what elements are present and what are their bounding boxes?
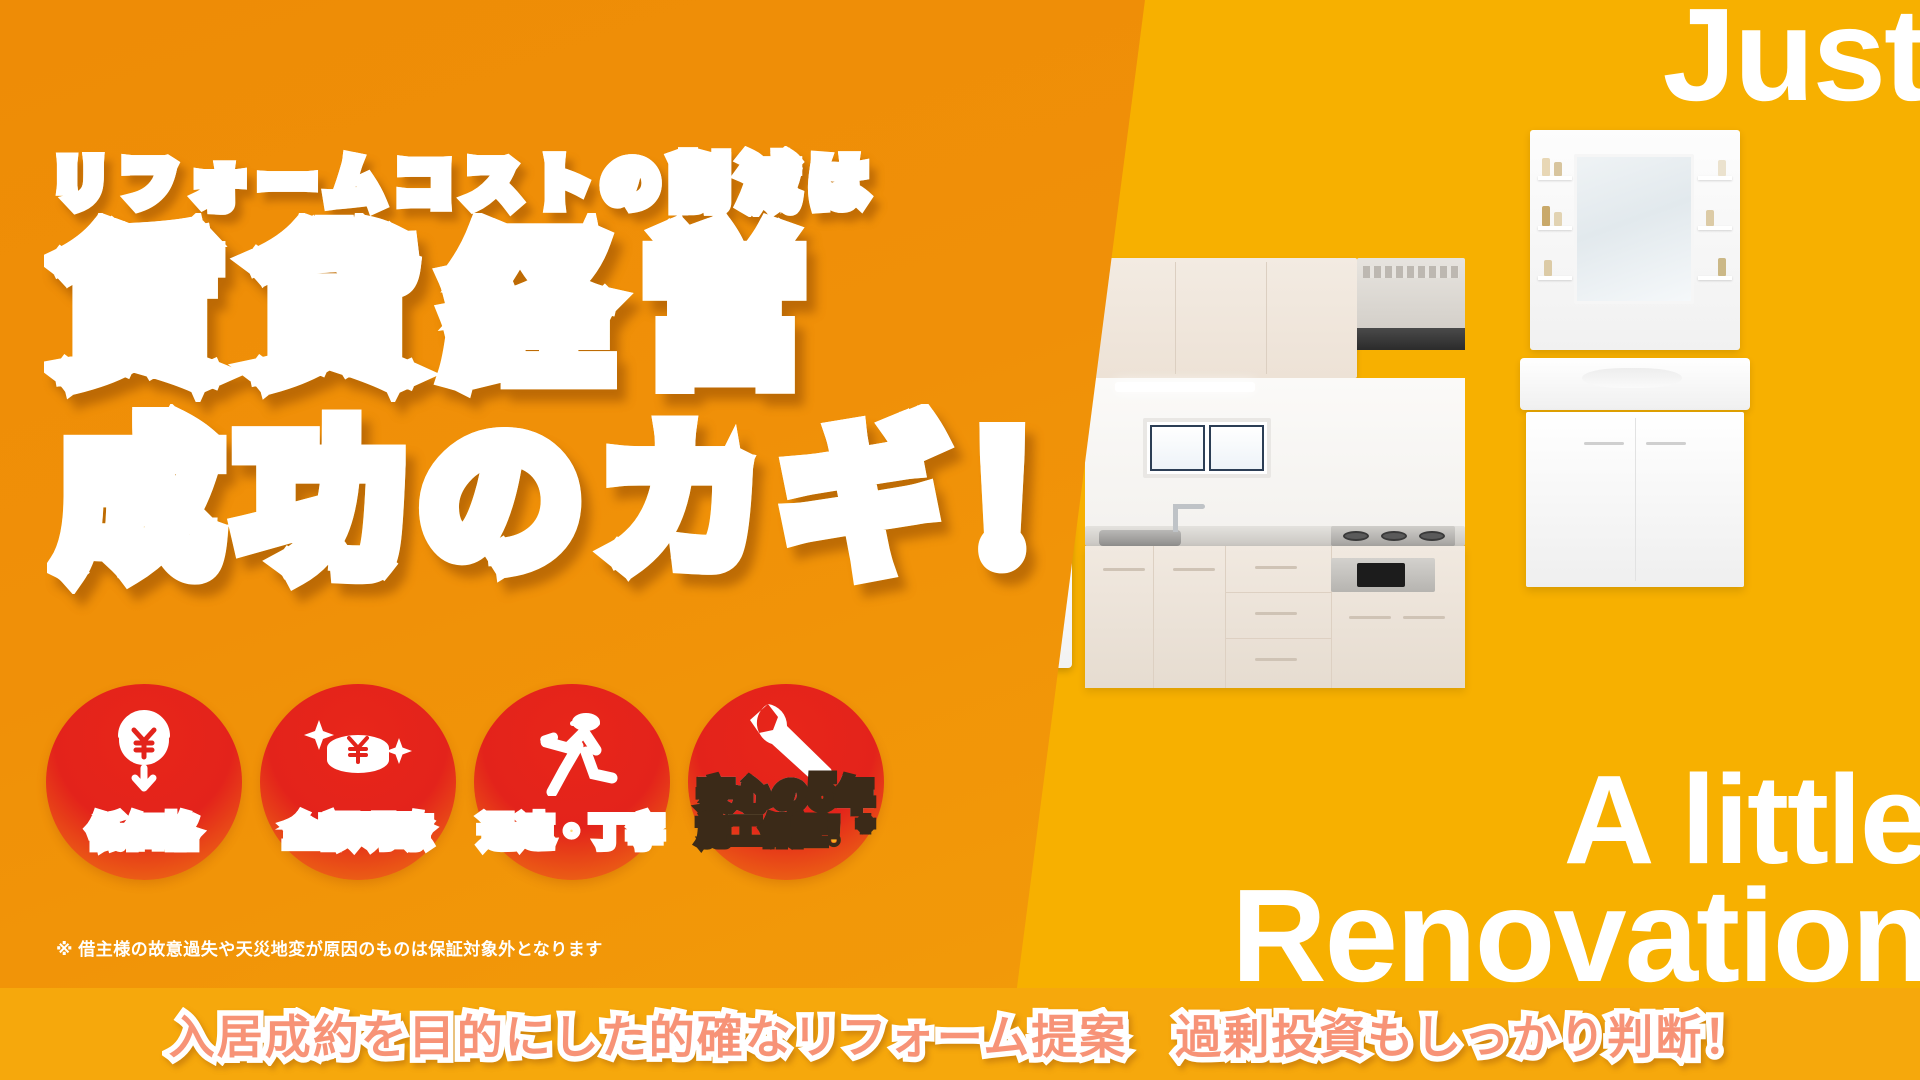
badge-low-price[interactable]: 低価格: [46, 684, 242, 880]
renovation-promo-banner: Panasonic VL-MD301 通話 / 終了 Just A little…: [0, 0, 1920, 1080]
badge-five-year-warranty[interactable]: 安心の5年 施工保証！※: [688, 684, 884, 880]
kicker-text: リフォームコストの削減は: [52, 138, 878, 220]
vanity-mirror: [1574, 154, 1694, 304]
under-cabinet-light: [1115, 382, 1255, 392]
feature-badge-list: 低価格 金額明瞭: [46, 684, 884, 880]
kitchen-range-hood: [1357, 258, 1465, 350]
bottom-message-bar: 入居成約を目的にした的確なリフォーム提案 過剰投資もしっかり判断！: [0, 988, 1920, 1080]
bathroom-vanity-photo: [1520, 130, 1750, 590]
sparkle-coins-icon: [260, 706, 456, 798]
kitchen-window: [1143, 418, 1271, 478]
badge-fast-careful[interactable]: 迅速・丁寧: [474, 684, 670, 880]
badge-clear-pricing[interactable]: 金額明瞭: [260, 684, 456, 880]
badge-label: 迅速・丁寧: [479, 813, 664, 850]
yen-coin-down-icon: [46, 706, 242, 798]
kitchen-gas-cooktop: [1331, 526, 1455, 546]
english-word-just: Just: [1663, 0, 1920, 117]
kitchen-wall-cabinets: [1085, 258, 1357, 378]
badge-label: 金額明瞭: [284, 813, 432, 850]
vanity-cabinet: [1526, 412, 1744, 587]
badge-label: 安心の5年 施工保証！※: [698, 768, 874, 850]
kitchen-grill-oven: [1331, 558, 1435, 592]
warranty-disclaimer: ※ 借主様の故意過失や天災地変が原因のものは保証対象外となります: [56, 935, 603, 960]
headline-line-1: 賃貸経営: [56, 228, 836, 393]
bottom-message-text: 入居成約を目的にした的確なリフォーム提案 過剰投資もしっかり判断！: [169, 1001, 1752, 1067]
kitchen-faucet: [1173, 504, 1178, 532]
badge-label: 低価格: [88, 813, 199, 850]
vanity-mirror-cabinet: [1530, 130, 1740, 350]
running-worker-icon: [474, 706, 670, 798]
english-word-renovation: Renovation: [1231, 873, 1920, 998]
vanity-bowl: [1582, 368, 1682, 388]
system-kitchen-photo: [1085, 258, 1465, 688]
headline-line-2: 成功のカギ！: [56, 420, 1142, 585]
kitchen-backsplash: [1085, 378, 1465, 528]
